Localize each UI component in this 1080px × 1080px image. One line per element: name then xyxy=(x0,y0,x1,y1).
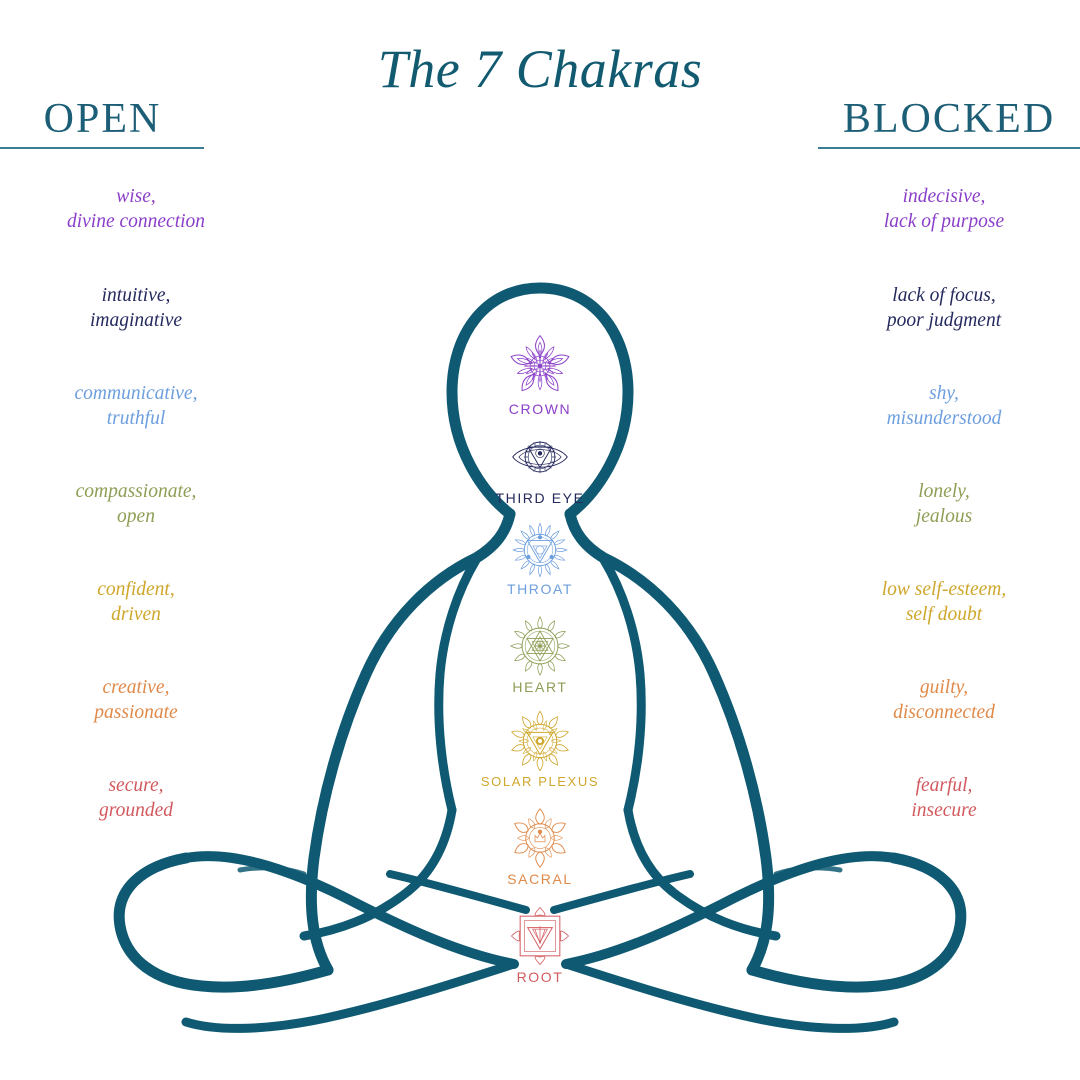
open-trait-heart: compassionate,open xyxy=(0,479,272,529)
blocked-trait-third-eye: lack of focus,poor judgment xyxy=(808,283,1080,333)
blocked-trait-root: fearful,insecure xyxy=(808,773,1080,823)
chakra-label-crown: CROWN xyxy=(410,401,670,417)
chakra-heart[interactable]: HEART xyxy=(410,615,670,695)
chakra-label-third-eye: THIRD EYE xyxy=(410,490,670,506)
column-header-open: OPEN xyxy=(0,95,205,143)
chakra-label-sacral: SACRAL xyxy=(410,871,670,887)
chakra-sacral[interactable]: SACRAL xyxy=(410,807,670,887)
trait-line-2: passionate xyxy=(0,700,272,725)
open-trait-sacral: creative,passionate xyxy=(0,675,272,725)
sacral-chakra-icon xyxy=(410,807,670,869)
trait-line-2: lack of purpose xyxy=(808,209,1080,234)
blocked-trait-crown: indecisive,lack of purpose xyxy=(808,184,1080,234)
crown-chakra-lotus-icon xyxy=(410,333,670,399)
page-title: The 7 Chakras xyxy=(0,38,1080,100)
open-trait-throat: communicative,truthful xyxy=(0,381,272,431)
open-trait-third-eye: intuitive,imaginative xyxy=(0,283,272,333)
trait-line-2: open xyxy=(0,504,272,529)
trait-line-2: jealous xyxy=(808,504,1080,529)
chakra-label-heart: HEART xyxy=(410,679,670,695)
chakra-crown[interactable]: CROWN xyxy=(410,333,670,417)
trait-line-1: fearful, xyxy=(916,775,973,796)
trait-line-1: intuitive, xyxy=(102,285,171,306)
trait-line-2: disconnected xyxy=(808,700,1080,725)
blocked-trait-throat: shy,misunderstood xyxy=(808,381,1080,431)
trait-line-1: lonely, xyxy=(918,481,969,502)
trait-line-2: misunderstood xyxy=(808,406,1080,431)
chakra-throat[interactable]: THROAT xyxy=(410,521,670,597)
trait-line-2: poor judgment xyxy=(808,308,1080,333)
chakra-label-throat: THROAT xyxy=(410,581,670,597)
blocked-trait-sacral: guilty,disconnected xyxy=(808,675,1080,725)
trait-line-1: lack of focus, xyxy=(892,285,995,306)
column-header-blocked: BLOCKED xyxy=(818,95,1080,143)
root-chakra-icon xyxy=(410,905,670,967)
trait-line-2: driven xyxy=(0,602,272,627)
trait-line-2: grounded xyxy=(0,798,272,823)
heart-chakra-icon xyxy=(410,615,670,677)
open-trait-solar-plexus: confident,driven xyxy=(0,577,272,627)
open-trait-root: secure,grounded xyxy=(0,773,272,823)
open-trait-crown: wise,divine connection xyxy=(0,184,272,234)
blocked-trait-heart: lonely,jealous xyxy=(808,479,1080,529)
trait-line-1: wise, xyxy=(116,186,156,207)
chakra-solar-plexus[interactable]: SOLAR PLEXUS xyxy=(410,710,670,789)
chakra-label-root: ROOT xyxy=(410,969,670,985)
trait-line-1: confident, xyxy=(97,579,174,600)
trait-line-1: shy, xyxy=(929,383,959,404)
trait-line-2: self doubt xyxy=(808,602,1080,627)
header-rule-left xyxy=(0,147,204,149)
trait-line-1: guilty, xyxy=(920,677,968,698)
trait-line-1: compassionate, xyxy=(76,481,197,502)
chakra-third-eye[interactable]: THIRD EYE xyxy=(410,426,670,506)
trait-line-1: communicative, xyxy=(75,383,198,404)
trait-line-2: divine connection xyxy=(0,209,272,234)
trait-line-2: insecure xyxy=(808,798,1080,823)
trait-line-1: low self-esteem, xyxy=(882,579,1007,600)
throat-chakra-icon xyxy=(410,521,670,579)
trait-line-1: secure, xyxy=(108,775,163,796)
trait-line-2: truthful xyxy=(0,406,272,431)
chakra-root[interactable]: ROOT xyxy=(410,905,670,985)
header-rule-right xyxy=(818,147,1080,149)
trait-line-2: imaginative xyxy=(0,308,272,333)
trait-line-1: indecisive, xyxy=(903,186,986,207)
blocked-trait-solar-plexus: low self-esteem,self doubt xyxy=(808,577,1080,627)
trait-line-1: creative, xyxy=(103,677,170,698)
third-eye-chakra-icon xyxy=(410,426,670,488)
chakra-label-solar-plexus: SOLAR PLEXUS xyxy=(410,774,670,789)
solar-plexus-chakra-icon xyxy=(410,710,670,772)
chakra-infographic: The 7 Chakras OPEN BLOCKED xyxy=(0,0,1080,1080)
